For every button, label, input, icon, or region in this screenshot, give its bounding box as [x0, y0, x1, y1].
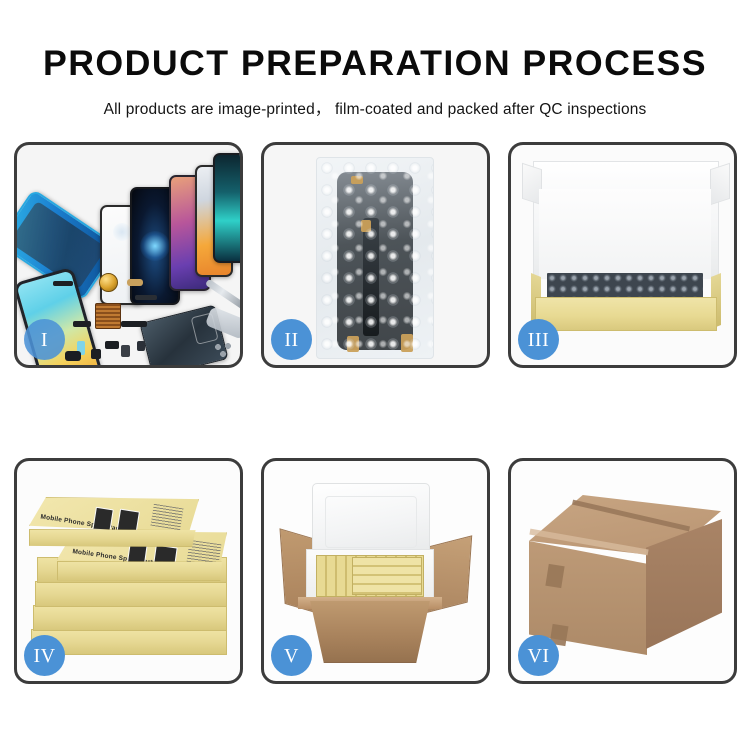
box-spec-lines-back	[150, 504, 183, 530]
labelled-box-back-lid: Mobile Phone Spare Parts	[29, 497, 199, 533]
step-card-4[interactable]: Mobile Phone Spare Parts Mobile Phone Sp…	[14, 458, 243, 684]
process-step-grid: I II	[14, 142, 736, 690]
bubble-wrap-bag	[316, 157, 434, 359]
vibration-motor-part	[99, 273, 118, 292]
flex-cable-part	[53, 281, 73, 286]
step-card-2[interactable]: II	[261, 142, 490, 368]
camera-module-part	[65, 351, 81, 361]
box-window-back-1	[92, 507, 114, 534]
step-card-6[interactable]: VI	[508, 458, 737, 684]
header: PRODUCT PREPARATION PROCESS All products…	[0, 0, 750, 119]
labelled-box-back-body	[29, 529, 199, 547]
inner-box-front	[535, 297, 717, 331]
page-subtitle: All products are image-printed， film-coa…	[0, 97, 750, 119]
chip-grid-part	[95, 303, 121, 329]
step-card-5[interactable]: V	[261, 458, 490, 684]
small-part-f	[121, 345, 130, 357]
step-badge-2: II	[271, 319, 312, 360]
step-badge-6: VI	[518, 635, 559, 676]
product-preparation-infographic: PRODUCT PREPARATION PROCESS All products…	[0, 0, 750, 750]
step-badge-1: I	[24, 319, 65, 360]
step-card-3[interactable]: III	[508, 142, 737, 368]
carton-front	[302, 601, 438, 663]
gold-connector-part	[127, 279, 143, 286]
screws-group	[215, 343, 237, 357]
phone-teal-screen	[213, 153, 240, 263]
step-badge-4: IV	[24, 635, 65, 676]
small-part-e	[91, 349, 101, 359]
step-badge-3: III	[518, 319, 559, 360]
page-title: PRODUCT PREPARATION PROCESS	[0, 46, 750, 81]
step-card-1[interactable]: I	[14, 142, 243, 368]
bubble-texture-overlay	[317, 158, 433, 358]
stacked-box-3	[35, 581, 227, 607]
small-part-a	[73, 321, 91, 327]
step-badge-5: V	[271, 635, 312, 676]
foam-sheet	[539, 189, 711, 279]
small-part-b	[121, 321, 147, 327]
kraft-boxes-row-2	[352, 557, 422, 595]
labelled-box-front-body	[57, 561, 227, 581]
small-part-c	[105, 341, 119, 349]
small-part-g	[137, 341, 145, 351]
carton-tape-1	[545, 564, 564, 588]
ribbon-cable-part	[135, 295, 157, 300]
stacked-box-4	[33, 605, 227, 631]
